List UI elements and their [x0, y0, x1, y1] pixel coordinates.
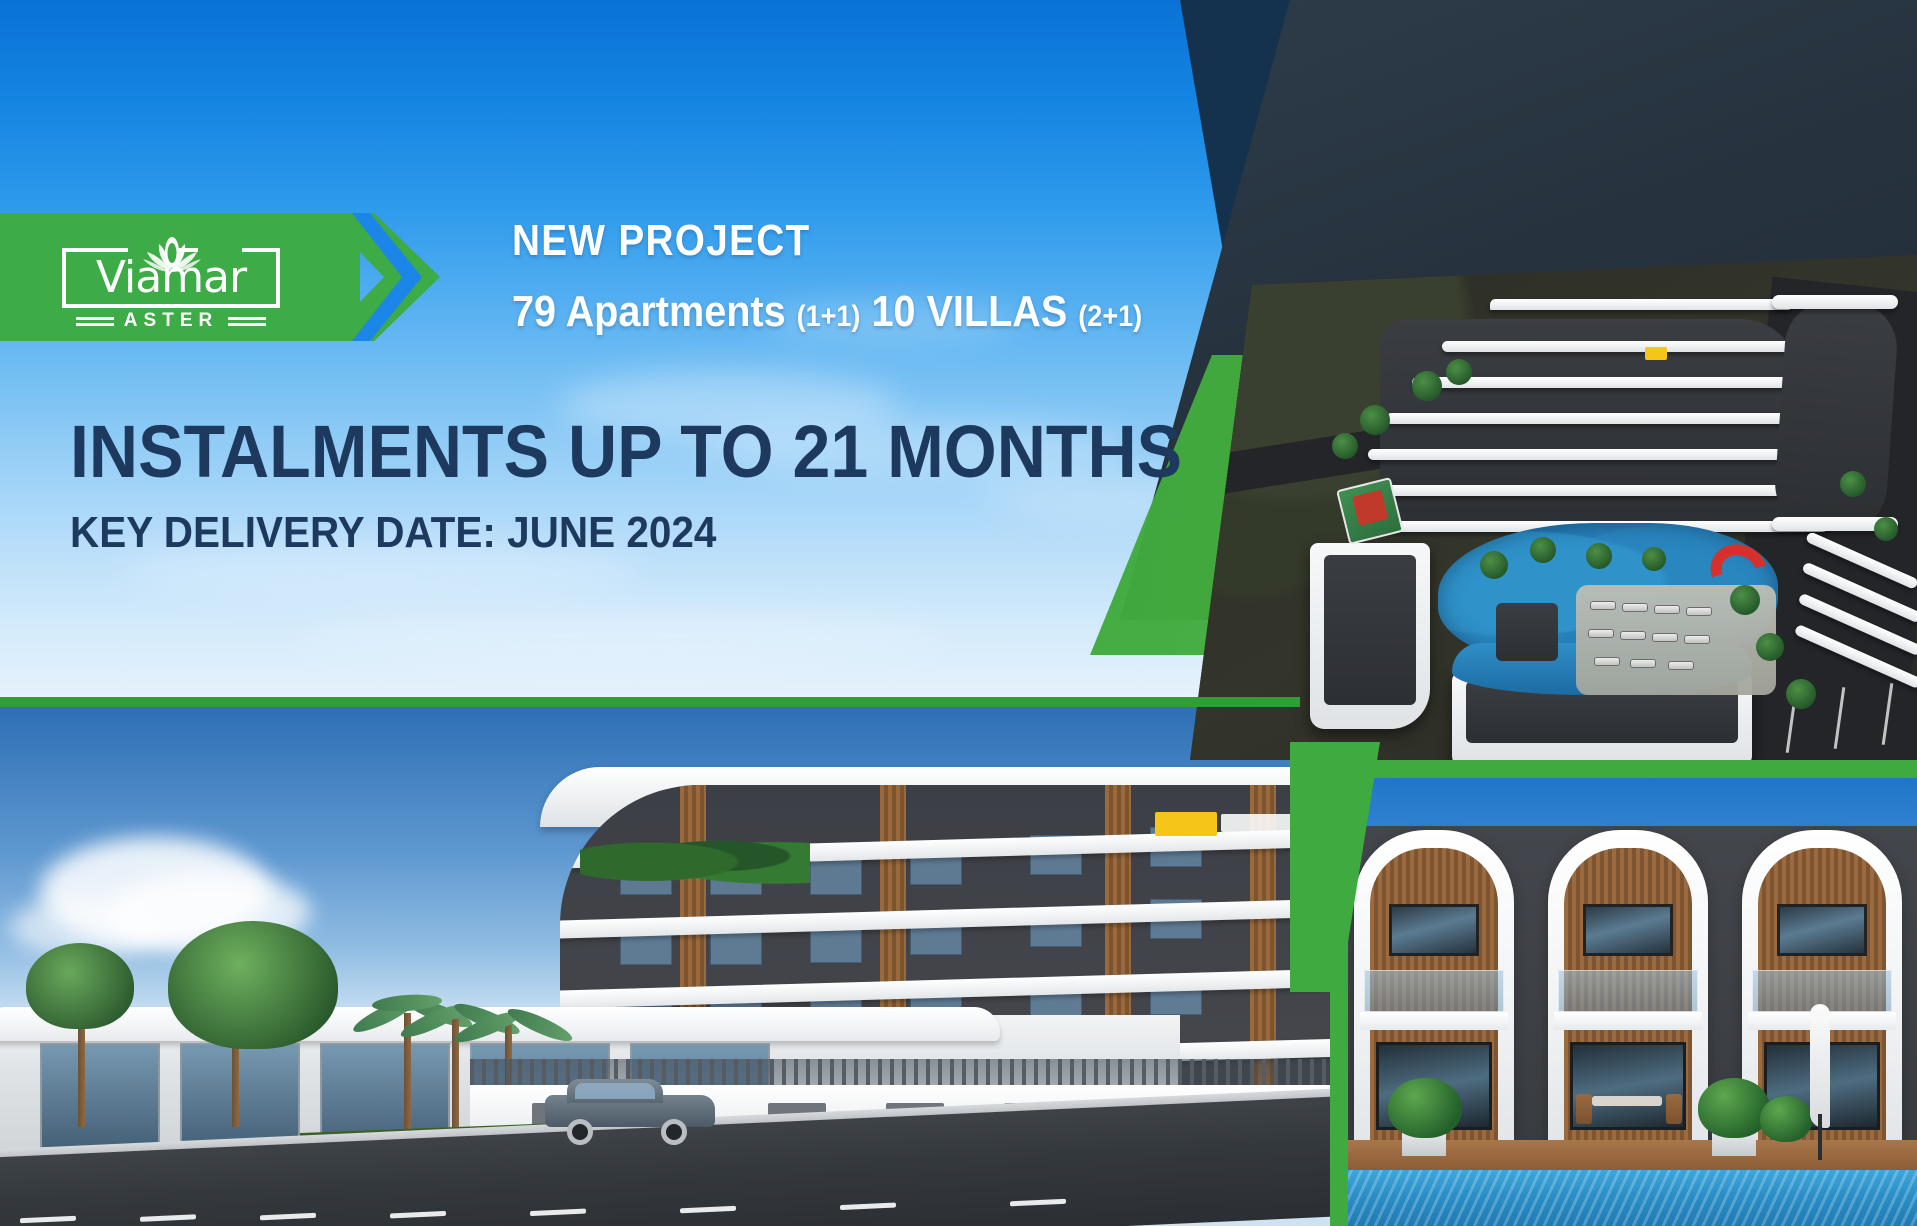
villas-count: 10 VILLAS	[871, 287, 1067, 336]
villas-layout: (2+1)	[1078, 300, 1142, 333]
patio-chair	[1666, 1094, 1682, 1124]
promo-banner: Viamar ASTER NEW PROJECT 79 Apartments (…	[0, 0, 1917, 1226]
sky-background	[0, 0, 1300, 700]
building-signage	[1155, 812, 1217, 836]
street-render	[0, 707, 1330, 1226]
apartments-layout: (1+1)	[797, 300, 861, 333]
green-divider-right	[1340, 760, 1917, 778]
brand-logo[interactable]: Viamar ASTER	[52, 232, 292, 328]
shop-window	[180, 1043, 300, 1149]
delivery-date-text: KEY DELIVERY DATE: JUNE 2024	[70, 508, 716, 558]
patio-table	[1592, 1096, 1662, 1106]
villa-render	[1340, 778, 1917, 1226]
aerial-render	[1190, 255, 1917, 760]
shrub	[1760, 1096, 1812, 1142]
low-rise-roof	[1324, 555, 1416, 705]
tree-foliage	[168, 921, 338, 1049]
green-divider-horizontal	[0, 697, 1300, 707]
shrub	[1698, 1078, 1770, 1138]
villa-unit	[1548, 830, 1708, 1140]
cloud-shape	[300, 610, 940, 662]
parasol-icon	[1810, 1004, 1830, 1154]
shrub	[1388, 1078, 1462, 1138]
patio-chair	[1576, 1094, 1592, 1124]
pool-bar	[1496, 603, 1558, 661]
tower-wing	[1772, 297, 1900, 534]
tree-foliage	[26, 943, 134, 1029]
main-headline: INSTALMENTS UP TO 21 MONTHS	[70, 412, 1182, 492]
shop-window	[40, 1043, 160, 1149]
logo-dash-right-icon	[228, 315, 266, 327]
eyebrow-text: NEW PROJECT	[512, 218, 810, 264]
logo-wordmark: Viamar	[52, 256, 290, 300]
logo-subtitle-row: ASTER	[52, 310, 290, 332]
aerial-signage	[1645, 347, 1667, 360]
roof-garden	[580, 827, 810, 885]
unit-mix-text: 79 Apartments (1+1) 10 VILLAS (2+1)	[512, 288, 1142, 341]
logo-subtitle: ASTER	[124, 310, 218, 332]
logo-dash-left-icon	[76, 315, 114, 327]
villa-swimming-pool	[1340, 1170, 1917, 1226]
apartments-count: 79 Apartments	[512, 287, 786, 336]
parked-car	[545, 1079, 715, 1137]
